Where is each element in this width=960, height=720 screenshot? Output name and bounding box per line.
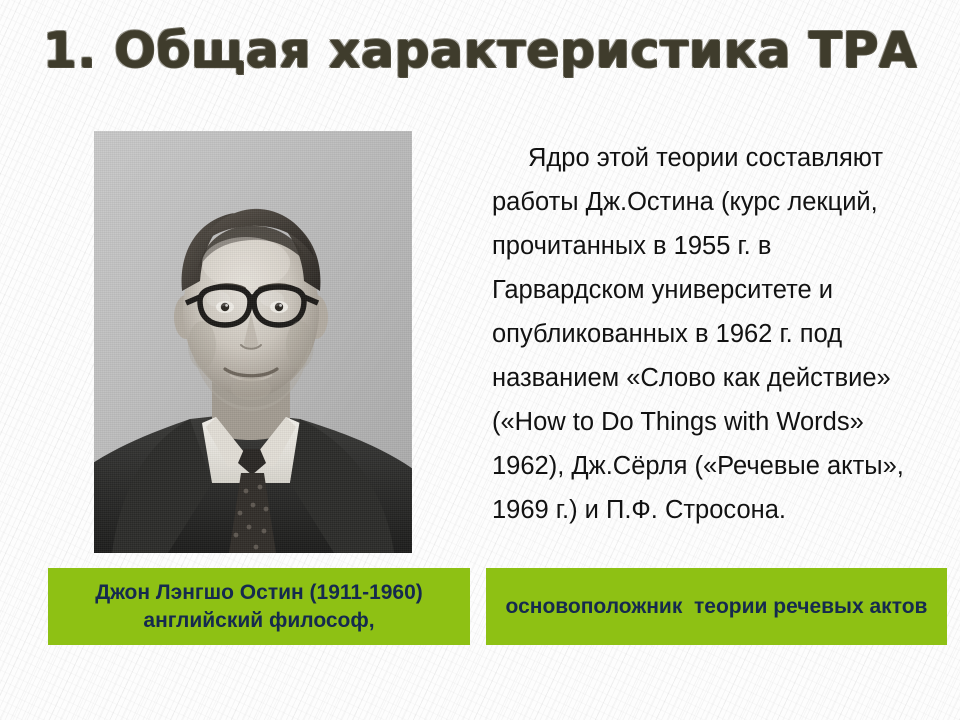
caption-box-austin-bio: Джон Лэнгшо Остин (1911-1960) английский… bbox=[48, 568, 470, 645]
portrait-photo bbox=[94, 131, 412, 553]
page-title: 1. Общая характеристика ТРА bbox=[0, 22, 960, 79]
body-paragraph: Ядро этой теории составляют работы Дж.Ос… bbox=[492, 136, 916, 532]
caption-text-austin-bio: Джон Лэнгшо Остин (1911-1960) английский… bbox=[58, 579, 460, 635]
caption-text-austin-role: основоположник теории речевых актов bbox=[506, 593, 928, 621]
caption-box-austin-role: основоположник теории речевых актов bbox=[486, 568, 947, 645]
slide-canvas: 1. Общая характеристика ТРА bbox=[0, 0, 960, 720]
portrait-illustration bbox=[94, 131, 412, 553]
